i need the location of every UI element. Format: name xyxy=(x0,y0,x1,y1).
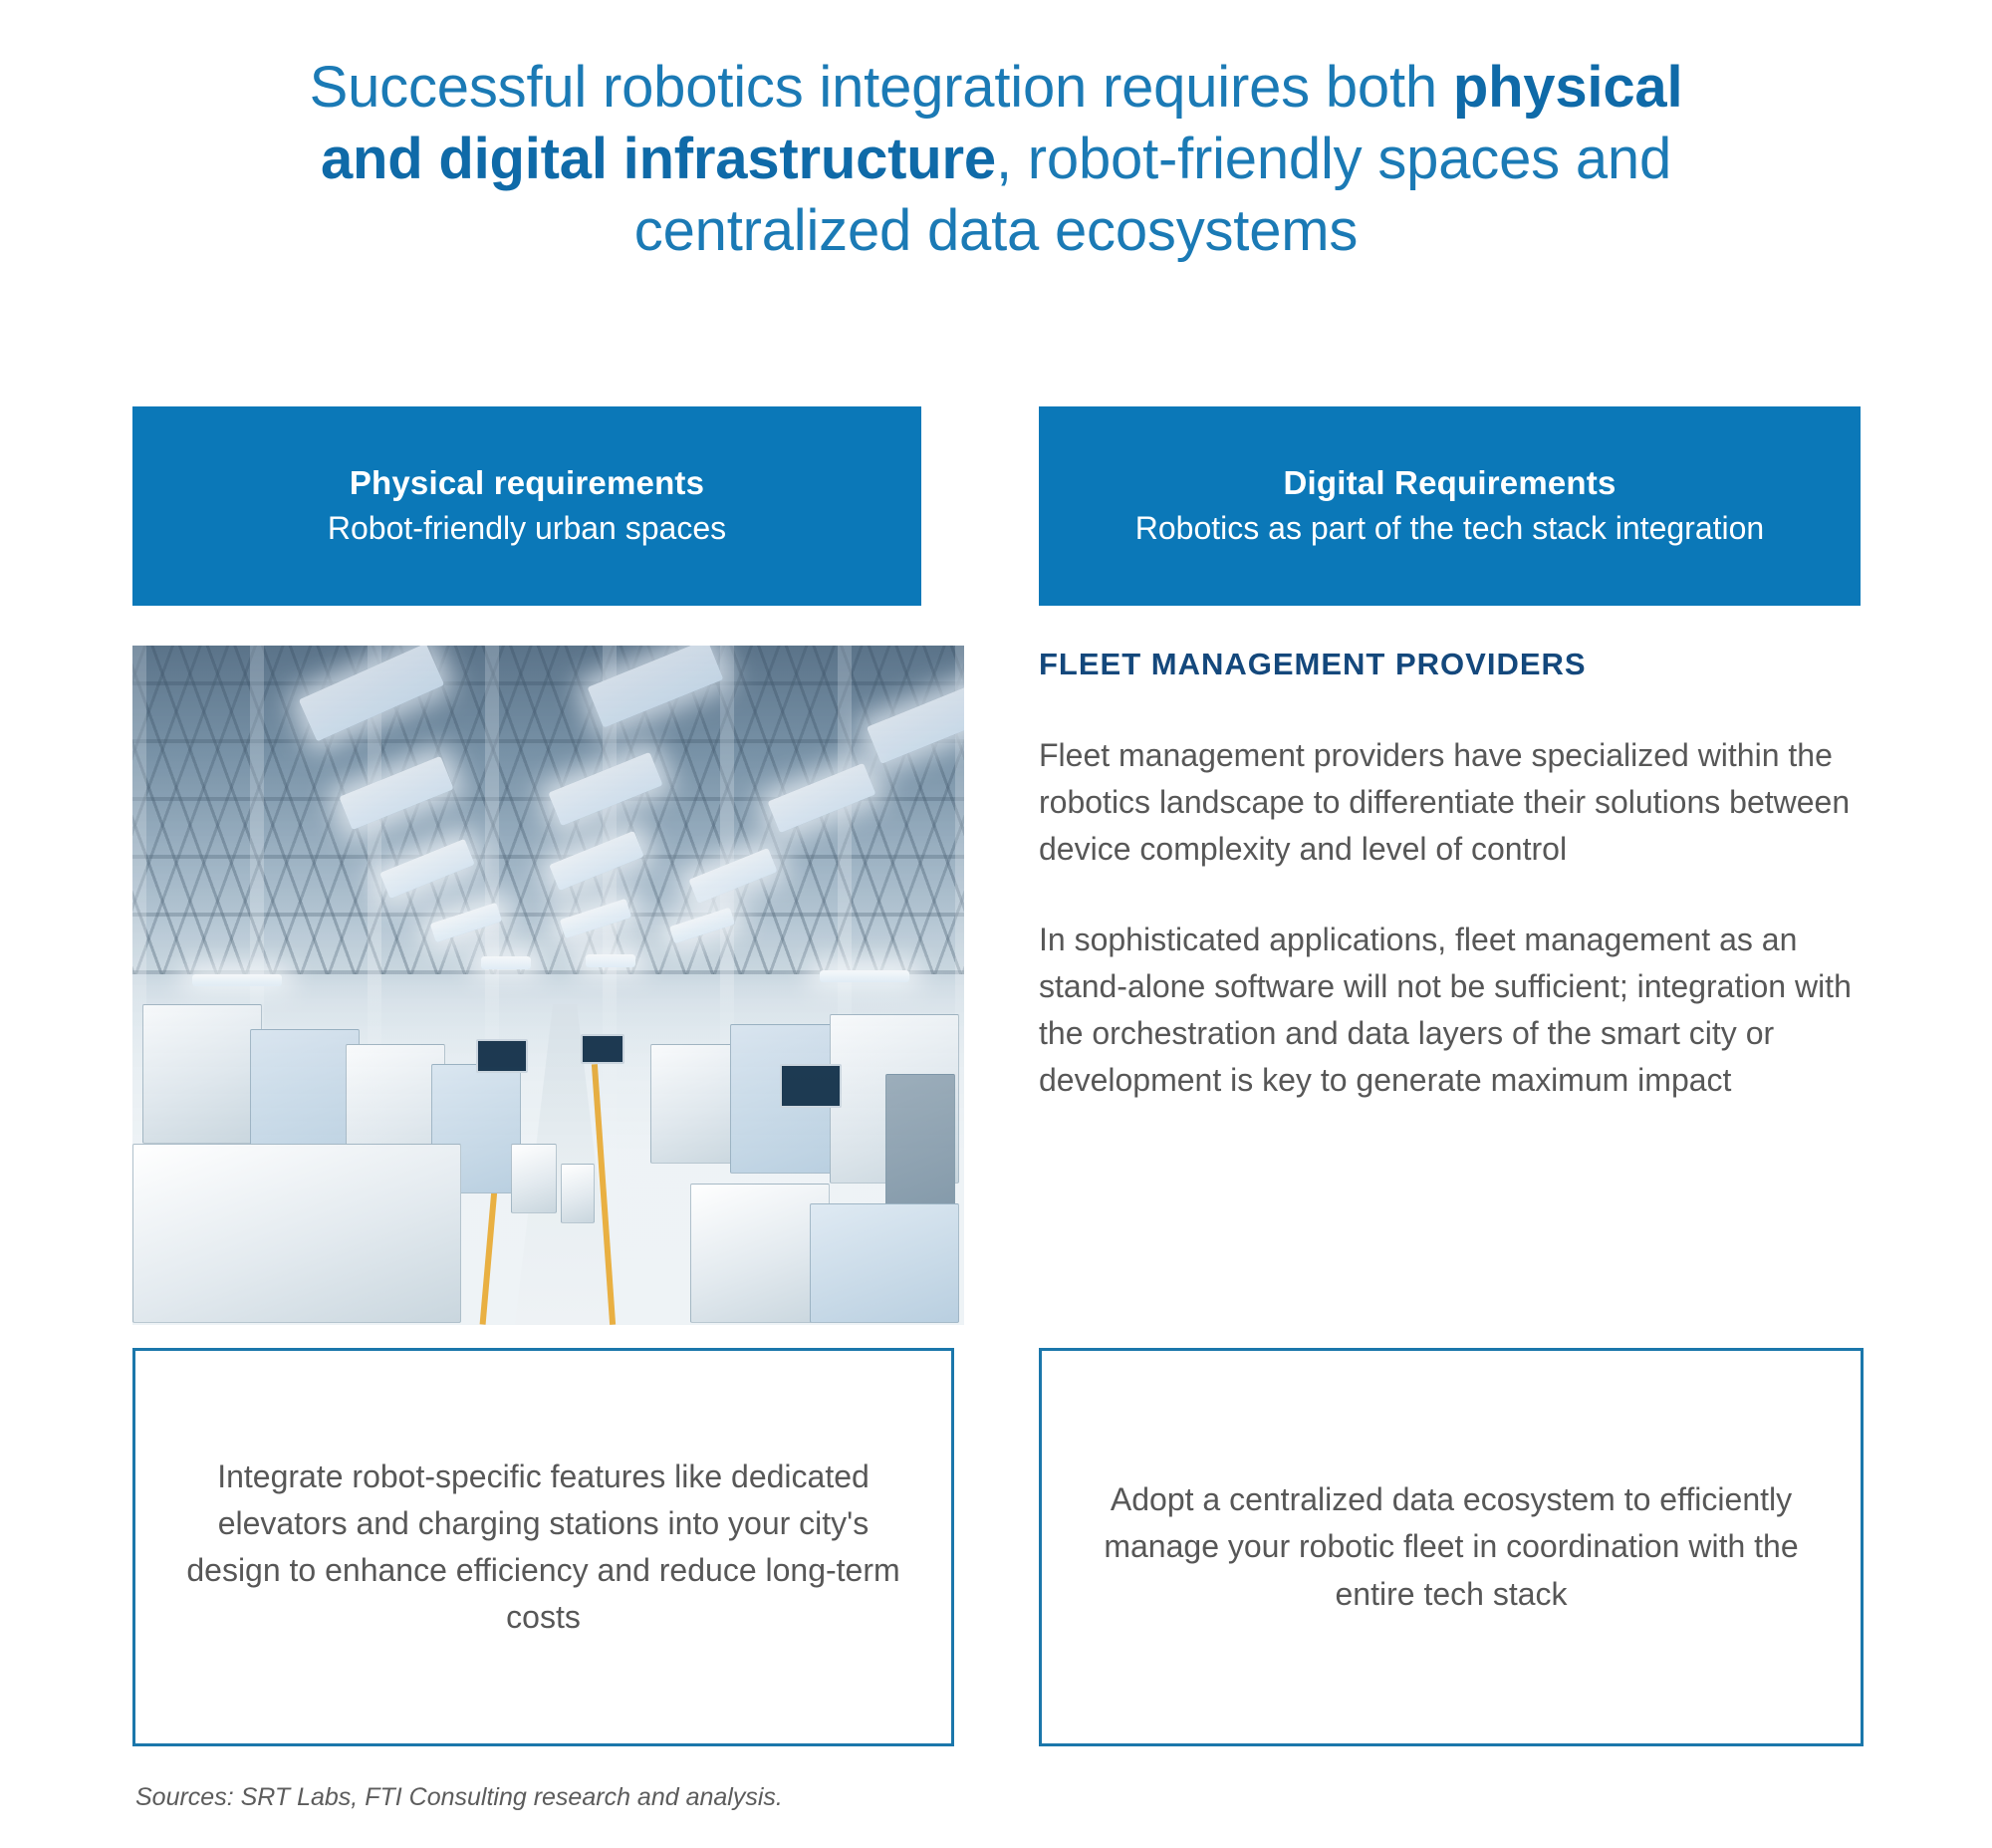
sources-note: Sources: SRT Labs, FTI Consulting resear… xyxy=(135,1783,783,1812)
page-title: Successful robotics integration requires… xyxy=(199,52,1793,267)
physical-callout-box: Integrate robot-specific features like d… xyxy=(132,1348,954,1746)
title-line2-bold: and digital infrastructure xyxy=(321,127,996,191)
digital-callout-text: Adopt a centralized data ecosystem to ef… xyxy=(1076,1476,1827,1617)
physical-callout-text: Integrate robot-specific features like d… xyxy=(169,1453,917,1641)
factory-photo xyxy=(132,646,964,1325)
title-line3-text: centralized data ecosystems xyxy=(634,198,1358,263)
digital-banner-title: Digital Requirements xyxy=(1067,463,1833,503)
physical-banner-title: Physical requirements xyxy=(160,463,893,503)
digital-paragraph-2: In sophisticated applications, fleet man… xyxy=(1039,917,1866,1104)
digital-callout-box: Adopt a centralized data ecosystem to ef… xyxy=(1039,1348,1864,1746)
slide-root: Successful robotics integration requires… xyxy=(0,0,1992,1848)
factory-photo-canvas xyxy=(132,646,964,1325)
physical-banner-subtitle: Robot-friendly urban spaces xyxy=(160,509,893,547)
digital-banner-subtitle: Robotics as part of the tech stack integ… xyxy=(1067,509,1833,547)
digital-requirements-banner: Digital Requirements Robotics as part of… xyxy=(1039,406,1861,606)
title-line2-text: , robot-friendly spaces and xyxy=(996,127,1671,191)
fleet-management-kicker: FLEET MANAGEMENT PROVIDERS xyxy=(1039,646,1866,682)
digital-requirements-body: FLEET MANAGEMENT PROVIDERS Fleet managem… xyxy=(1039,646,1866,1148)
physical-requirements-banner: Physical requirements Robot-friendly urb… xyxy=(132,406,921,606)
digital-paragraph-1: Fleet management providers have speciali… xyxy=(1039,732,1866,873)
right-column: Digital Requirements Robotics as part of… xyxy=(1039,406,1861,606)
title-line1-bold: physical xyxy=(1453,55,1683,120)
photo-blue-tint xyxy=(132,646,964,1325)
left-column: Physical requirements Robot-friendly urb… xyxy=(132,406,921,606)
title-line1-text: Successful robotics integration requires… xyxy=(310,55,1453,120)
